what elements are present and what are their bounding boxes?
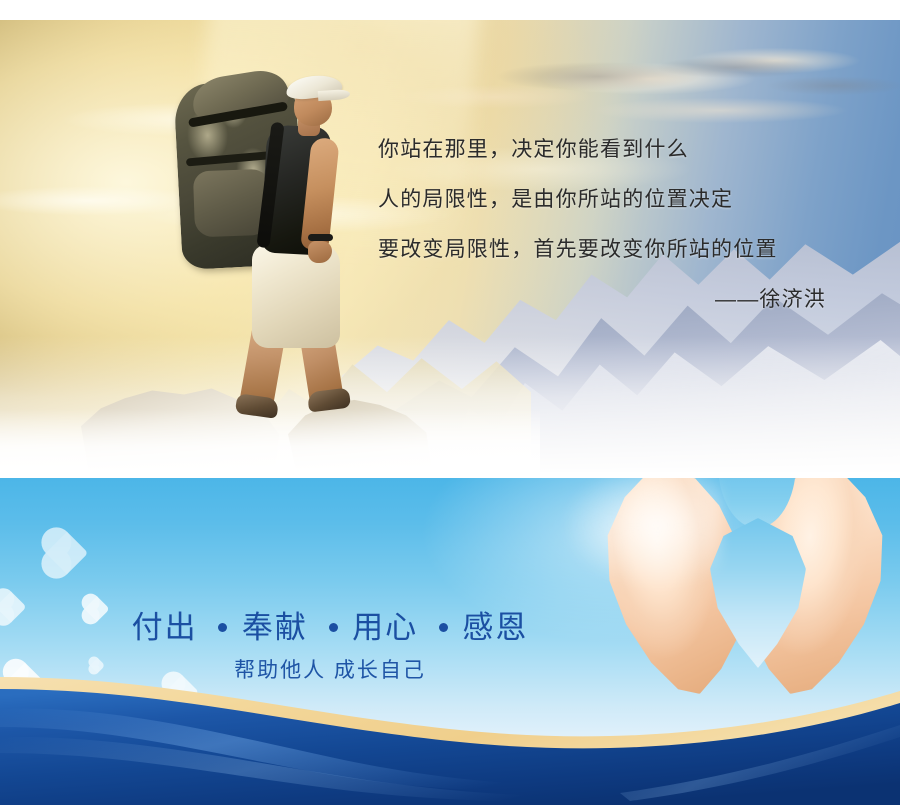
hiker-figure [168,58,378,438]
quote-line-1: 你站在那里，决定你能看到什么 [378,125,878,175]
slogan-dot-icon-3 [439,623,448,632]
hiker-wristband [308,234,333,241]
quote-block: 你站在那里，决定你能看到什么 人的局限性，是由你所站的位置决定 要改变局限性，首… [378,125,878,325]
slogan-dot-icon-1 [218,623,227,632]
slogan-word-3: 用心 [352,610,418,645]
heart-hands-banner: 付出 奉献 用心 感恩 帮助他人 成长自己 [0,478,900,805]
dark-cloud-band [468,38,900,115]
hiker-mountain-banner: 你站在那里，决定你能看到什么 人的局限性，是由你所站的位置决定 要改变局限性，首… [0,20,900,472]
quote-line-2: 人的局限性，是由你所站的位置决定 [378,175,878,225]
quote-author: ——徐济洪 [378,275,878,325]
slogan-word-1: 付出 [132,610,198,645]
slogan-dot-icon-2 [329,623,338,632]
wave-svg [0,675,900,805]
hand-soft-edge [562,478,722,590]
slogan-word-4: 感恩 [462,610,528,645]
slogan-main-line: 付出 奉献 用心 感恩 [0,606,660,650]
heart-bubble-icon [46,532,88,574]
slogan-word-2: 奉献 [242,610,308,645]
hiker-cap-brim [318,89,351,101]
quote-line-3: 要改变局限性，首先要改变你所站的位置 [378,225,878,275]
wave-graphic [0,675,900,805]
page-root: 你站在那里，决定你能看到什么 人的局限性，是由你所站的位置决定 要改变局限性，首… [0,0,900,805]
